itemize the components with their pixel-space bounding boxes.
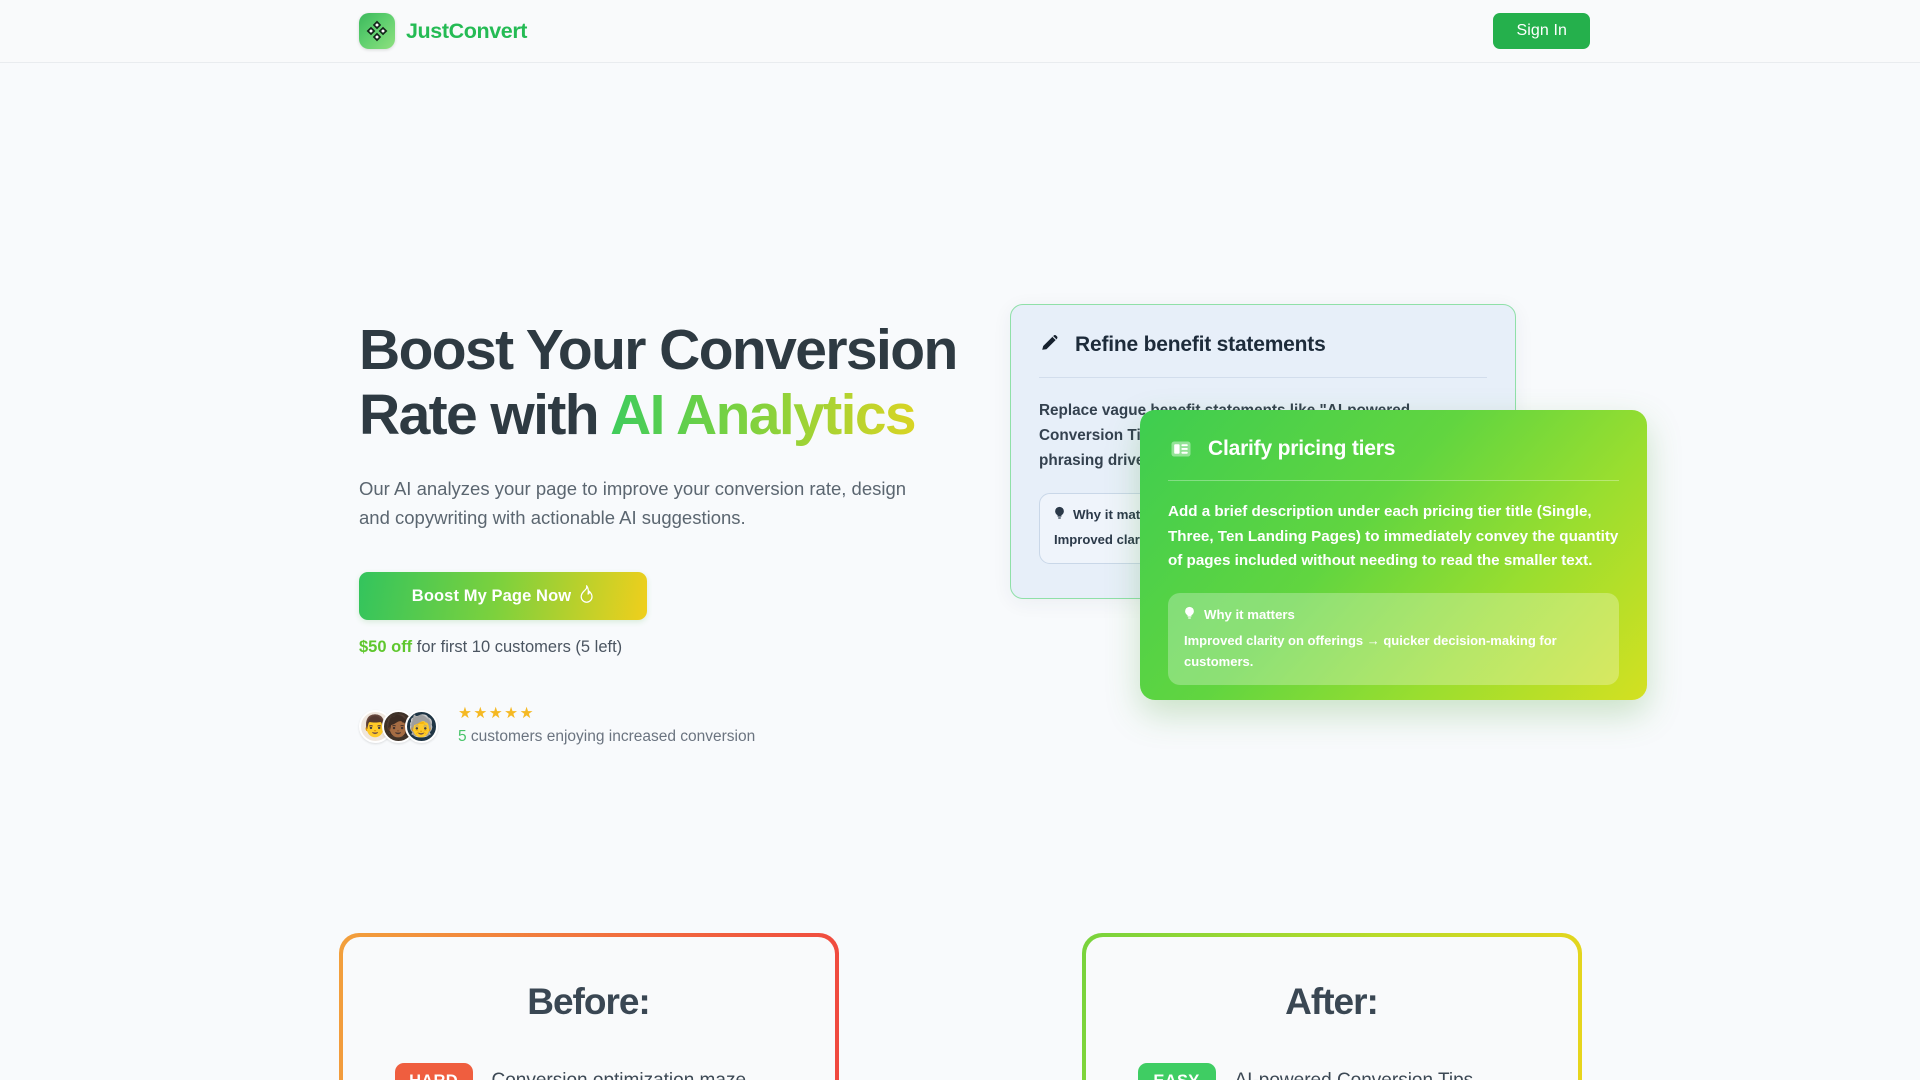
card-title: Clarify pricing tiers bbox=[1208, 437, 1395, 461]
after-rows: EASY AI-powered Conversion Tips EASY bbox=[1138, 1063, 1526, 1080]
boost-my-page-button[interactable]: Boost My Page Now bbox=[359, 572, 647, 620]
avatar-group: 👨 🧑🏾 🧓 bbox=[359, 710, 438, 743]
card-header: Refine benefit statements bbox=[1039, 331, 1487, 378]
suggestion-card-pricing-tiers[interactable]: Clarify pricing tiers Add a brief descri… bbox=[1140, 410, 1647, 700]
list-item: EASY AI-powered Conversion Tips bbox=[1138, 1063, 1526, 1080]
offer-discount: $50 off bbox=[359, 638, 412, 656]
why-header: Why it matters bbox=[1184, 606, 1603, 623]
brand-name: JustConvert bbox=[406, 19, 527, 44]
fire-emoji-icon bbox=[579, 585, 594, 608]
cta-label: Boost My Page Now bbox=[412, 587, 571, 606]
before-card-inner: Before: HARD Conversion optimization maz… bbox=[343, 937, 835, 1080]
card-title: Refine benefit statements bbox=[1075, 333, 1326, 357]
site-header: JustConvert Sign In bbox=[0, 0, 1920, 63]
before-title: Before: bbox=[395, 981, 783, 1023]
customer-count-text: 5 customers enjoying increased conversio… bbox=[458, 728, 755, 746]
list-item: HARD Conversion optimization maze bbox=[395, 1063, 783, 1080]
before-after-section: Before: HARD Conversion optimization maz… bbox=[0, 933, 1920, 1080]
offer-text: $50 off for first 10 customers (5 left) bbox=[359, 638, 959, 657]
diamond-grid-icon bbox=[359, 13, 395, 49]
why-title: Why it matters bbox=[1204, 607, 1295, 622]
list-item-label: Conversion optimization maze bbox=[492, 1070, 747, 1080]
card-body: Add a brief description under each prici… bbox=[1168, 500, 1619, 574]
sign-in-button[interactable]: Sign In bbox=[1493, 13, 1590, 49]
pencil-icon bbox=[1039, 331, 1061, 358]
rating-block: ★★★★★ 5 customers enjoying increased con… bbox=[458, 706, 755, 746]
hero-section: Boost Your Conversion Rate with AI Analy… bbox=[0, 63, 1920, 823]
star-rating-icon: ★★★★★ bbox=[458, 706, 755, 722]
brand-logo[interactable]: JustConvert bbox=[359, 13, 527, 49]
why-it-matters-box: Why it matters Improved clarity on offer… bbox=[1168, 593, 1619, 686]
after-card: After: EASY AI-powered Conversion Tips E… bbox=[1082, 933, 1582, 1080]
page-title: Boost Your Conversion Rate with AI Analy… bbox=[359, 318, 959, 448]
offer-rest: for first 10 customers (5 left) bbox=[412, 638, 622, 656]
customer-count-suffix: customers enjoying increased conversion bbox=[467, 728, 756, 745]
list-item-label: AI-powered Conversion Tips bbox=[1235, 1070, 1474, 1080]
card-header: Clarify pricing tiers bbox=[1168, 436, 1619, 481]
lightbulb-icon bbox=[1184, 606, 1195, 623]
headline-line-2: Rate with bbox=[359, 383, 610, 447]
why-text: Improved clarity on offerings → quicker … bbox=[1184, 631, 1603, 673]
after-title: After: bbox=[1138, 981, 1526, 1023]
status-badge: HARD bbox=[395, 1063, 473, 1080]
status-badge: EASY bbox=[1138, 1063, 1216, 1080]
after-card-inner: After: EASY AI-powered Conversion Tips E… bbox=[1086, 937, 1578, 1080]
layout-list-icon bbox=[1168, 436, 1194, 462]
hero-subhead: Our AI analyzes your page to improve you… bbox=[359, 474, 925, 532]
lightbulb-icon bbox=[1054, 506, 1065, 523]
avatar: 🧓 bbox=[405, 710, 438, 743]
social-proof: 👨 🧑🏾 🧓 ★★★★★ 5 customers enjoying increa… bbox=[359, 706, 959, 746]
before-card: Before: HARD Conversion optimization maz… bbox=[339, 933, 839, 1080]
before-rows: HARD Conversion optimization maze HARD bbox=[395, 1063, 783, 1080]
headline-gradient-text: AI Analytics bbox=[610, 383, 915, 447]
customer-count-number: 5 bbox=[458, 728, 467, 745]
hero-copy: Boost Your Conversion Rate with AI Analy… bbox=[359, 318, 959, 746]
headline-line-1: Boost Your Conversion bbox=[359, 318, 957, 382]
